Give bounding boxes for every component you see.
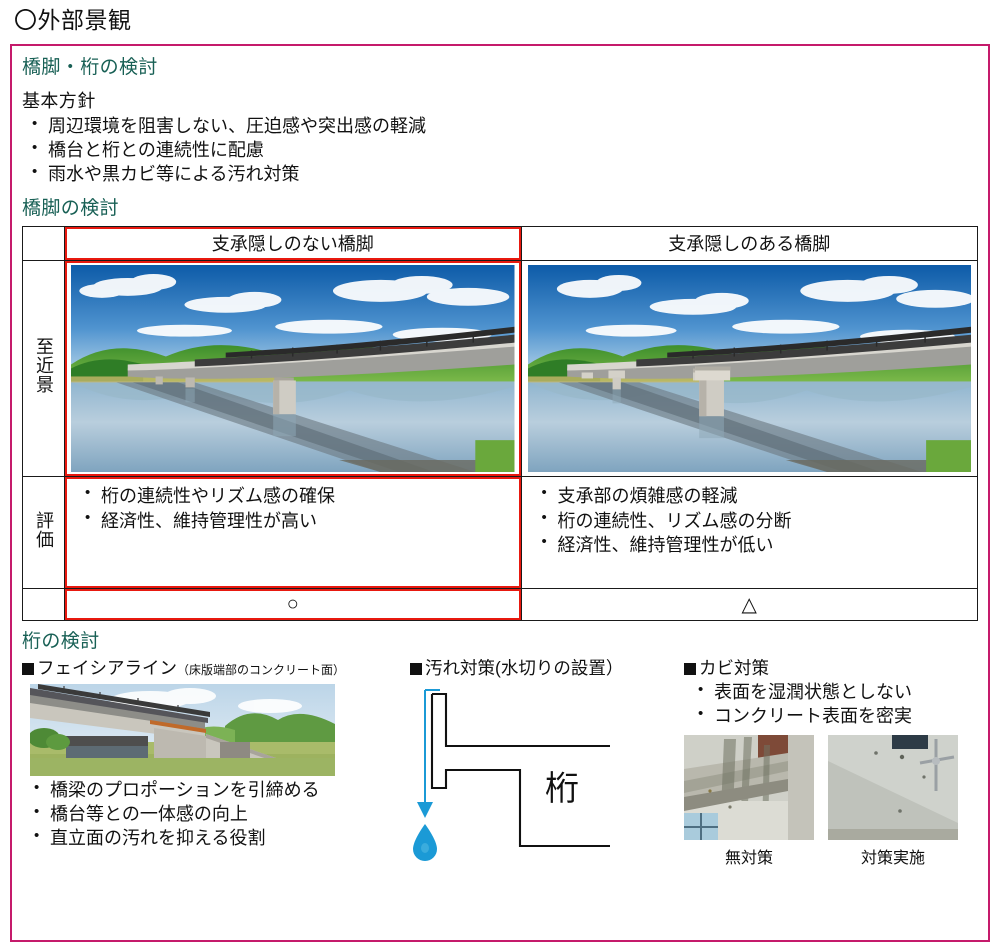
mold-block: カビ対策 表面を湿潤状態としない コンクリート表面を密実: [684, 655, 984, 868]
section-heading-pier-girder: 橋脚・桁の検討: [12, 46, 988, 81]
water-drop-icon: [413, 824, 437, 861]
list-item: 経済性、維持管理性が高い: [85, 509, 521, 534]
table-row-marks: ○ △: [23, 588, 978, 620]
bullet-square-icon: [410, 663, 422, 675]
fascia-title: フェイシアライン: [37, 658, 177, 678]
list-item: 橋梁のプロポーションを引締める: [34, 779, 402, 803]
girder-columns: フェイシアライン（床版端部のコンクリート面）: [12, 655, 988, 893]
evaluation-cell-right: 支承部の煩雑感の軽減 桁の連続性、リズム感の分断 経済性、維持管理性が低い: [521, 476, 978, 588]
drain-block: 汚れ対策(水切りの設置）: [410, 655, 682, 884]
pier-comparison-table: 支承隠しのない橋脚 支承隠しのある橋脚 至近景: [22, 226, 978, 621]
section-girder-study: 桁の検討 フェイシアライン（床版端部のコンクリート面）: [12, 621, 988, 893]
list-item: 橋台等との一体感の向上: [34, 803, 402, 827]
mold-photo-untreated-image: [684, 735, 814, 840]
list-item: 橋台と桁との連続性に配慮: [32, 139, 988, 163]
column-header-no-bearing-cover: 支承隠しのない橋脚: [65, 226, 522, 260]
mold-photo-untreated: 無対策: [684, 735, 814, 868]
section-heading-girder: 桁の検討: [12, 621, 988, 655]
subheading-basic-policy: 基本方針: [12, 81, 988, 114]
table-header-row: 支承隠しのない橋脚 支承隠しのある橋脚: [23, 226, 978, 260]
evaluation-cell-left: 桁の連続性やリズム感の確保 経済性、維持管理性が高い: [65, 476, 522, 588]
fascia-bridge-photo: [30, 684, 335, 776]
section-heading-pier-study: 橋脚の検討: [12, 189, 988, 222]
list-item: 支承部の煩雑感の軽減: [542, 484, 978, 509]
photo-cell-right: [521, 260, 978, 476]
bullet-square-icon: [684, 663, 696, 675]
list-item: 雨水や黒カビ等による汚れ対策: [32, 163, 988, 187]
list-item: コンクリート表面を密実: [698, 705, 984, 729]
drain-title: 汚れ対策(水切りの設置）: [425, 658, 623, 678]
bullet-square-icon: [22, 663, 34, 675]
bridge-render-no-bearing-cover: [71, 265, 515, 472]
mold-photo-untreated-caption: 無対策: [684, 840, 814, 868]
mold-photo-treated-image: [828, 735, 958, 840]
flow-arrow-icon: [417, 802, 433, 818]
page-title: 〇外部景観: [0, 0, 1000, 38]
mold-title: カビ対策: [699, 658, 769, 678]
list-item: 桁の連続性やリズム感の確保: [85, 484, 521, 509]
drain-heading: 汚れ対策(水切りの設置）: [410, 655, 682, 680]
fascia-note: （床版端部のコンクリート面）: [177, 663, 345, 677]
corner-cell: [23, 226, 65, 260]
fascia-heading: フェイシアライン（床版端部のコンクリート面）: [22, 655, 402, 680]
mold-photo-treated-caption: 対策実施: [828, 840, 958, 868]
evaluation-list-left: 桁の連続性やリズム感の確保 経済性、維持管理性が高い: [65, 483, 521, 536]
row-label-evaluation-text: 評価: [34, 511, 53, 549]
column-header-with-bearing-cover: 支承隠しのある橋脚: [521, 226, 978, 260]
bridge-render-with-bearing-cover: [528, 265, 972, 472]
list-item: 経済性、維持管理性が低い: [542, 533, 978, 558]
rating-mark-left: ○: [65, 588, 522, 620]
water-cut-detail-diagram: 桁: [410, 688, 678, 884]
fascia-block: フェイシアライン（床版端部のコンクリート面）: [22, 655, 402, 853]
photo-cell-left: [65, 260, 522, 476]
row-label-evaluation: 評価: [23, 476, 65, 588]
table-row-evaluation: 評価 桁の連続性やリズム感の確保 経済性、維持管理性が高い 支承部の煩雑感の軽減…: [23, 476, 978, 588]
mold-heading: カビ対策: [684, 655, 984, 680]
fascia-list: 橋梁のプロポーションを引締める 橋台等との一体感の向上 直立面の汚れを抑える役割: [22, 778, 402, 853]
basic-policy-list: 周辺環境を阻害しない、圧迫感や突出感の軽減 橋台と桁との連続性に配慮 雨水や黒カ…: [12, 114, 988, 189]
girder-label: 桁: [545, 770, 579, 808]
mold-list: 表面を湿潤状態としない コンクリート表面を密実: [684, 680, 984, 731]
evaluation-list-right: 支承部の煩雑感の軽減 桁の連続性、リズム感の分断 経済性、維持管理性が低い: [522, 483, 978, 560]
list-item: 表面を湿潤状態としない: [698, 681, 984, 705]
mold-photo-pair: 無対策: [684, 735, 984, 868]
mold-photo-treated: 対策実施: [828, 735, 958, 868]
content-frame: 橋脚・桁の検討 基本方針 周辺環境を阻害しない、圧迫感や突出感の軽減 橋台と桁と…: [10, 44, 990, 942]
mark-row-corner: [23, 588, 65, 620]
rating-mark-right: △: [521, 588, 978, 620]
list-item: 周辺環境を阻害しない、圧迫感や突出感の軽減: [32, 115, 988, 139]
row-label-close-view-text: 至近景: [34, 337, 53, 394]
list-item: 直立面の汚れを抑える役割: [34, 827, 402, 851]
table-row-photos: 至近景: [23, 260, 978, 476]
row-label-close-view: 至近景: [23, 260, 65, 476]
list-item: 桁の連続性、リズム感の分断: [542, 509, 978, 534]
